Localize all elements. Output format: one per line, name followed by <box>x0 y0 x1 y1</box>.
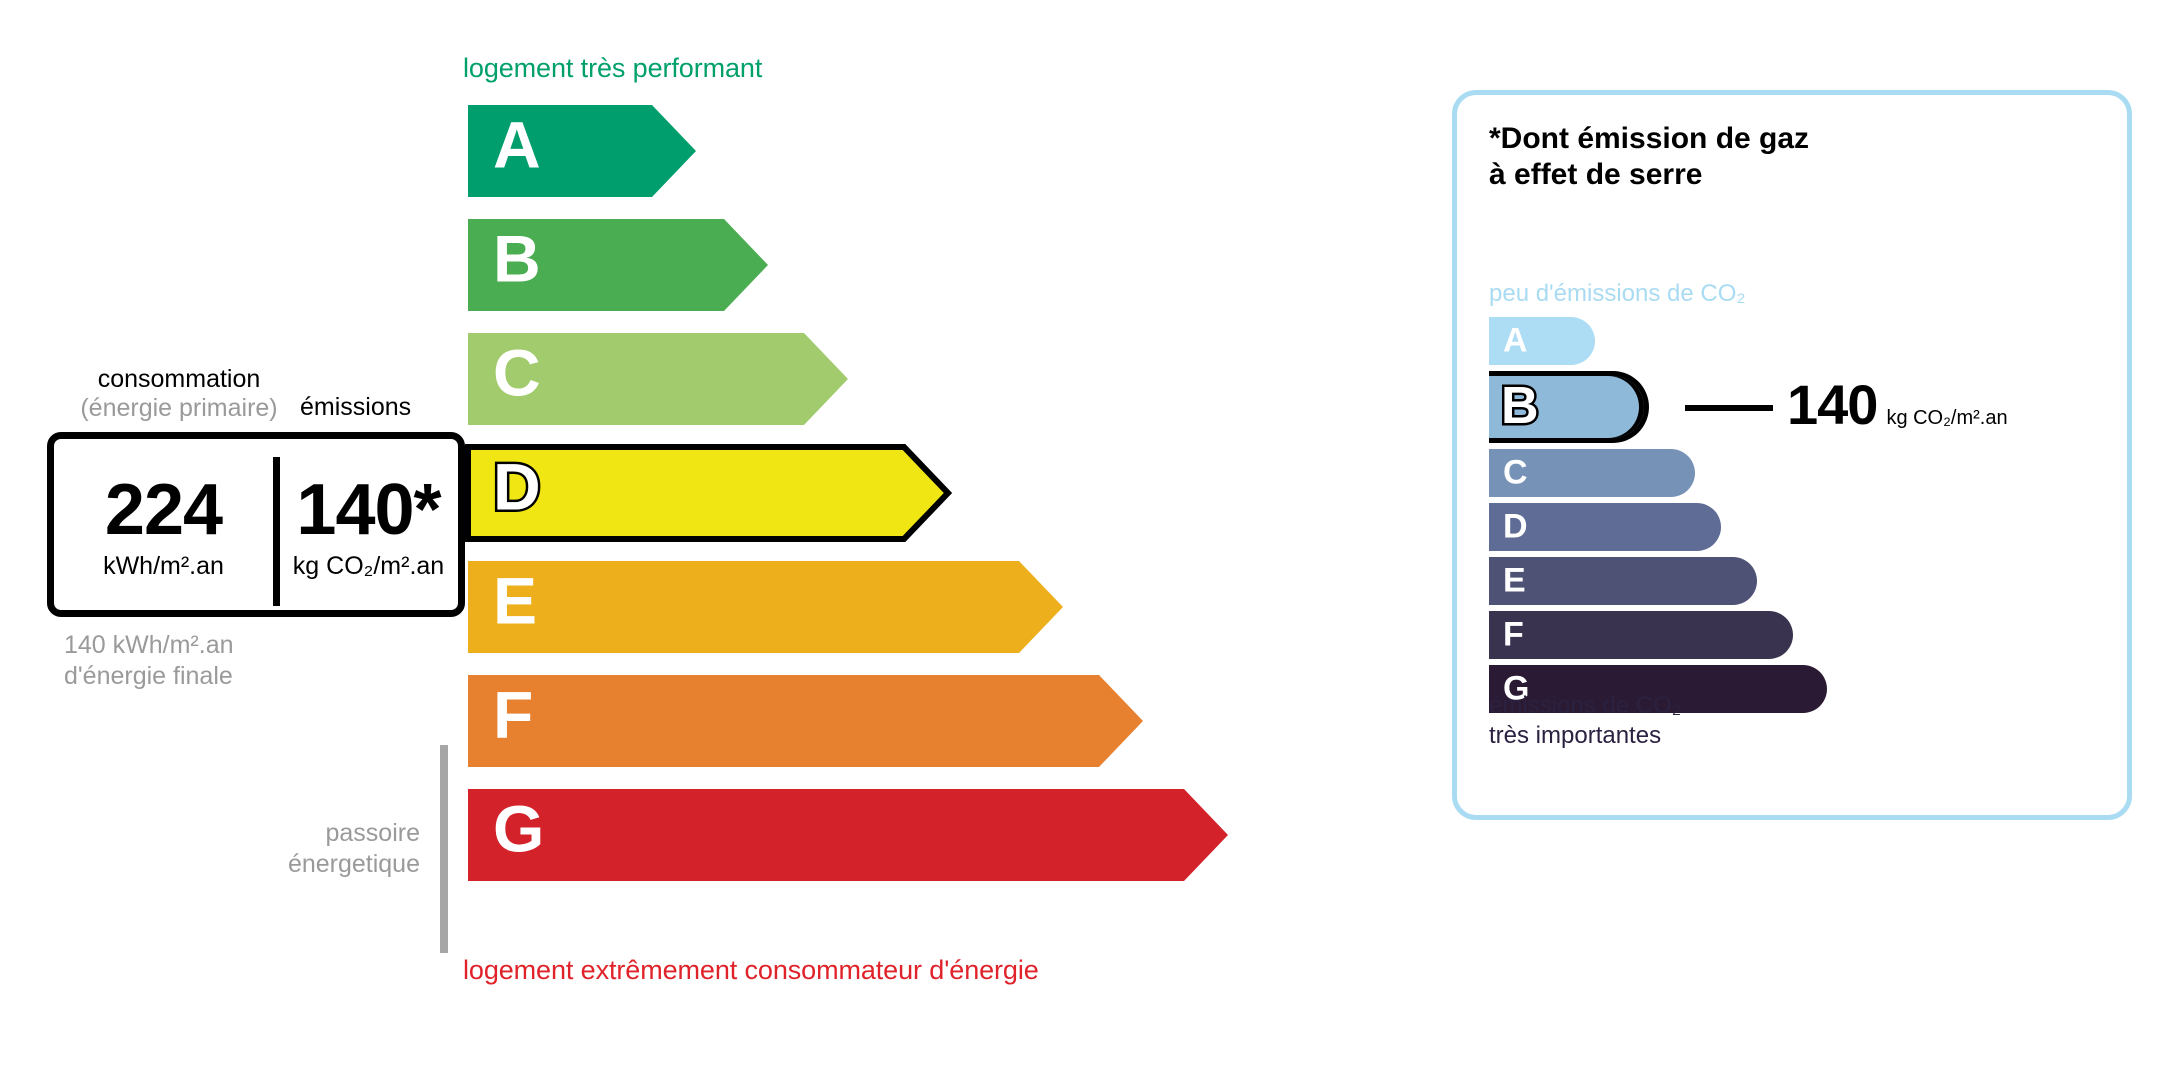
arrow-body-b: B <box>463 214 1263 306</box>
co2-title-line-1: *Dont émission de gaz <box>1489 121 1809 157</box>
consumption-label: consommation (énergie primaire) <box>64 365 294 423</box>
co2-letter-f: F <box>1503 617 1524 651</box>
consumption-label-title: consommation <box>64 365 294 394</box>
co2-row-c: C <box>1489 449 2109 497</box>
final-energy-line-2: d'énergie finale <box>64 661 234 692</box>
passoire-line-1: passoire <box>180 818 420 849</box>
co2-panel-title: *Dont émission de gaz à effet de serre <box>1489 121 1809 193</box>
energy-scale-panel: logement très performant ABCDEFG consomm… <box>0 0 1400 1079</box>
co2-title-line-2: à effet de serre <box>1489 157 1809 193</box>
caption-extreme-consumer: logement extrêmement consommateur d'éner… <box>463 955 1039 986</box>
co2-row-b: B140kg CO₂/m².an <box>1489 371 2109 443</box>
co2-bar-b: B <box>1489 371 1649 443</box>
arrow-shape-c <box>463 328 855 432</box>
passoire-marker-bar <box>440 745 448 953</box>
co2-bar-f: F <box>1489 611 1793 659</box>
consumption-cell: 224 kWh/m².an <box>54 470 273 579</box>
emission-value: 140* <box>279 476 458 544</box>
energy-arrow-e: E <box>463 556 1263 648</box>
co2-letter-b: B <box>1501 380 1539 432</box>
final-energy-line-1: 140 kWh/m².an <box>64 630 234 661</box>
emission-unit: kg CO₂/m².an <box>279 554 458 579</box>
arrow-body-e: E <box>463 556 1263 648</box>
co2-leader-line <box>1685 405 1773 411</box>
final-energy-note: 140 kWh/m².an d'énergie finale <box>64 630 234 693</box>
passoire-line-2: énergetique <box>180 849 420 880</box>
co2-bar-d: D <box>1489 503 1721 551</box>
arrow-shape-d <box>463 442 955 546</box>
energy-arrow-g: G <box>463 784 1263 876</box>
co2-bar-stack: AB140kg CO₂/m².anCDEFG <box>1489 317 2109 719</box>
co2-callout: 140kg CO₂/m².an <box>1787 377 2008 433</box>
co2-callout-unit: kg CO₂/m².an <box>1886 407 2007 430</box>
energy-arrow-b: B <box>463 214 1263 306</box>
co2-row-d: D <box>1489 503 2109 551</box>
arrow-shape-a <box>463 100 703 204</box>
dpe-diagram: logement très performant ABCDEFG consomm… <box>0 0 2170 1079</box>
co2-letter-e: E <box>1503 563 1526 597</box>
energy-arrow-c: C <box>463 328 1263 420</box>
co2-letter-c: C <box>1503 455 1528 489</box>
arrow-shape-e <box>463 556 1070 660</box>
co2-bar-c: C <box>1489 449 1695 497</box>
co2-low-emissions-label: peu d'émissions de CO₂ <box>1489 281 1746 307</box>
emissions-label: émissions <box>300 393 411 422</box>
consumption-value: 224 <box>54 476 273 544</box>
co2-bar-a: A <box>1489 317 1595 365</box>
co2-row-a: A <box>1489 317 2109 365</box>
co2-callout-value: 140 <box>1787 377 1877 433</box>
arrow-body-c: C <box>463 328 1263 420</box>
arrow-shape-g <box>463 784 1235 888</box>
energy-arrow-d: D <box>463 442 1263 534</box>
energy-arrow-a: A <box>463 100 1263 192</box>
energy-arrow-f: F <box>463 670 1263 762</box>
co2-high-emissions-label: émissions de CO₂ très importantes <box>1489 691 1681 751</box>
arrow-body-f: F <box>463 670 1263 762</box>
passoire-label: passoire énergetique <box>180 818 420 881</box>
value-box-divider <box>273 457 280 606</box>
co2-bar-e: E <box>1489 557 1757 605</box>
arrow-shape-b <box>463 214 775 318</box>
arrow-body-d: D <box>463 442 1263 534</box>
emission-cell: 140* kg CO₂/m².an <box>273 470 458 579</box>
co2-letter-d: D <box>1503 509 1528 543</box>
consumption-unit: kWh/m².an <box>54 554 273 579</box>
arrow-shape-f <box>463 670 1150 774</box>
energy-arrow-stack: ABCDEFG <box>463 100 1263 898</box>
co2-row-e: E <box>1489 557 2109 605</box>
consumption-label-sub: (énergie primaire) <box>64 394 294 423</box>
co2-row-f: F <box>1489 611 2109 659</box>
arrow-body-g: G <box>463 784 1263 876</box>
arrow-body-a: A <box>463 100 1263 192</box>
co2-bottom-line-1: émissions de CO₂ <box>1489 691 1681 721</box>
co2-bottom-line-2: très importantes <box>1489 721 1681 751</box>
co2-panel: *Dont émission de gaz à effet de serre p… <box>1452 90 2132 820</box>
caption-very-efficient: logement très performant <box>463 53 762 84</box>
value-box: 224 kWh/m².an 140* kg CO₂/m².an <box>47 432 465 617</box>
co2-letter-a: A <box>1503 323 1528 357</box>
